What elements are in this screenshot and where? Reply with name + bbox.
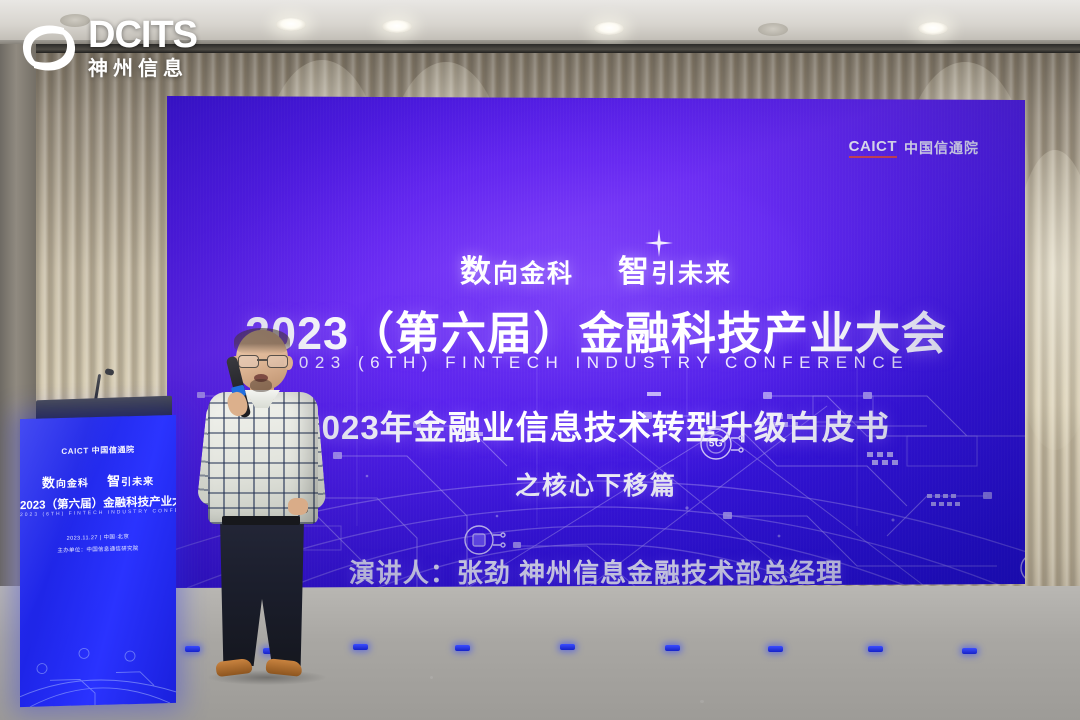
presenter-hair	[234, 328, 290, 354]
floor-texture	[430, 676, 433, 679]
downlight-icon	[918, 22, 948, 35]
dcits-brand-cn: 神州信息	[88, 59, 197, 79]
presenter-trousers	[220, 520, 304, 666]
downlight-icon	[382, 20, 412, 33]
presenter-hand-holding-clicker	[288, 498, 308, 515]
floor-led-marker-icon	[353, 644, 368, 650]
tagline-rest-1: 向金科	[493, 260, 574, 288]
floor-texture	[700, 700, 704, 703]
floor-led-marker-icon	[962, 648, 977, 654]
podium-tagline-char-2: 智	[107, 473, 121, 488]
presenter	[200, 330, 330, 680]
swirl-logo-icon	[18, 19, 80, 77]
conference-stage-photo: CAICT 中国信通院 数向金科 智引未来 2023（第六届）金融科技产业大会 …	[0, 0, 1080, 720]
presenter-belt	[222, 516, 300, 525]
tagline-char-2: 智	[618, 254, 651, 289]
podium-tagline-rest-2: 引未来	[121, 476, 154, 488]
tagline-char-1: 数	[460, 254, 493, 289]
dcits-wordmark: DCITS 神州信息	[88, 16, 197, 79]
podium-tagline-char-1: 数	[42, 475, 56, 490]
presenter-goatee	[250, 379, 272, 392]
floor-led-marker-icon	[768, 646, 783, 652]
dcits-brand-en: DCITS	[88, 16, 197, 54]
dcits-watermark-logo: DCITS 神州信息	[18, 16, 197, 79]
screen-tagline: 数向金科 智引未来	[167, 246, 1025, 291]
caict-mark: CAICT	[849, 138, 897, 158]
podium-caict-cn: 中国信通院	[92, 445, 135, 455]
caict-logo: CAICT 中国信通院	[849, 138, 979, 158]
floor-led-marker-icon	[665, 645, 680, 651]
floor-led-marker-icon	[455, 645, 470, 651]
downlight-icon	[594, 22, 624, 35]
downlight-icon	[758, 23, 788, 36]
podium-circuit-graphics	[20, 607, 176, 707]
floor-led-marker-icon	[560, 644, 575, 650]
caict-chinese-name: 中国信通院	[904, 138, 979, 158]
downlight-icon	[276, 18, 306, 31]
podium-tagline-rest-1: 向金科	[56, 478, 89, 490]
podium-caict-mark: CAICT	[61, 446, 88, 456]
podium: CAICT 中国信通院 数向金科 智引未来 2023（第六届）金融科技产业大会 …	[20, 415, 176, 707]
floor-led-marker-icon	[868, 646, 883, 652]
tagline-rest-2: 引未来	[651, 260, 732, 288]
eyeglasses-icon	[238, 355, 286, 366]
floor-led-marker-icon	[185, 646, 200, 652]
